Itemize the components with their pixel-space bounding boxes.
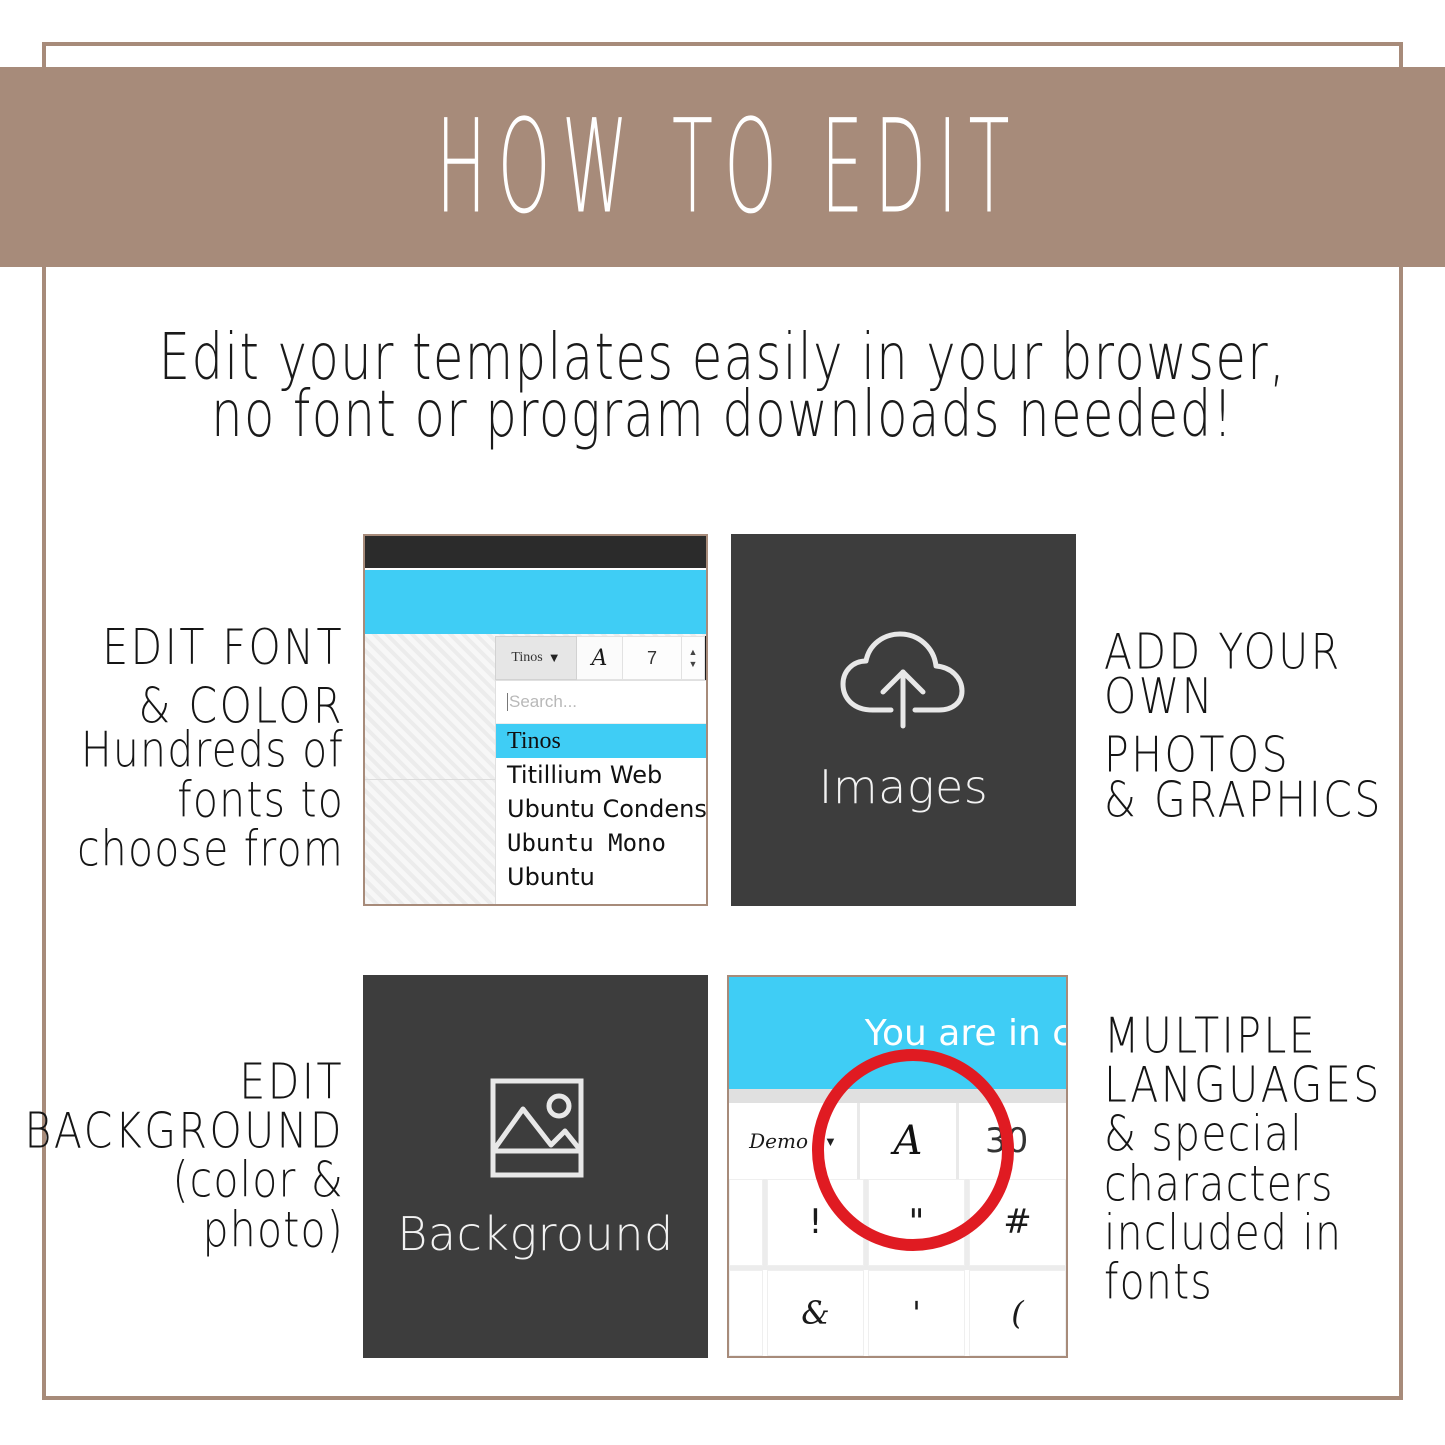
caption-edit-font-color: EDIT FONT & COLOR Hundreds of fonts to c… <box>62 628 344 874</box>
font-search-input[interactable]: Search... <box>496 681 708 724</box>
font-family-dropdown-label: Demo <box>749 1129 808 1153</box>
toolbar-edge <box>705 636 708 680</box>
font-picker-screenshot: Tinos ▼ A 7 ▲ ▼ Search... Tinos Titilliu… <box>363 534 708 906</box>
background-tile-label: Background <box>397 1207 673 1261</box>
red-highlight-circle-annotation <box>812 1049 1014 1251</box>
font-size-stepper[interactable]: ▲ ▼ <box>682 636 705 680</box>
caption-edit-background-line4: photo) <box>24 1201 344 1260</box>
font-family-dropdown-label: Tinos <box>511 650 542 666</box>
character-cell[interactable] <box>729 1270 763 1357</box>
caption-edit-font-color-line3: choose from <box>62 820 344 879</box>
subtitle: Edit your templates easily in your brows… <box>58 330 1387 443</box>
images-tile-label: Images <box>819 760 988 814</box>
font-dropdown-panel[interactable]: Search... Tinos Titillium Web Ubuntu Con… <box>495 680 708 906</box>
font-list-item[interactable]: Ubuntu <box>496 860 708 894</box>
caption-edit-font-color-upper: EDIT FONT & COLOR <box>62 618 344 736</box>
editor-banner-text: You are in c <box>865 1013 1068 1054</box>
editor-top-bar <box>365 536 706 568</box>
character-cell[interactable]: ( <box>969 1270 1066 1357</box>
font-size-input[interactable]: 7 <box>623 636 682 680</box>
text-caret <box>507 693 508 711</box>
cloud-upload-icon <box>829 626 979 736</box>
font-list-item[interactable]: Ubuntu Mono <box>496 826 708 860</box>
font-list-item[interactable]: Titillium Web <box>496 758 708 792</box>
font-list-item[interactable]: Ubuntu Condensed <box>496 792 708 826</box>
character-cell[interactable]: & <box>767 1270 864 1357</box>
character-cell[interactable]: ' <box>868 1270 965 1357</box>
caption-add-photos-line3: & GRAPHICS <box>1104 771 1404 830</box>
caption-add-photos-line2: OWN PHOTOS <box>1104 667 1404 785</box>
stepper-down-icon[interactable]: ▼ <box>689 660 698 669</box>
font-search-placeholder: Search... <box>509 692 577 712</box>
header-band: HOW TO EDIT <box>0 67 1445 267</box>
font-family-dropdown-button[interactable]: Tinos ▼ <box>495 636 577 680</box>
images-tile[interactable]: Images <box>731 534 1076 906</box>
subtitle-line-2: no font or program downloads needed! <box>58 382 1387 449</box>
caption-multiple-languages-line6: fonts <box>1104 1253 1404 1312</box>
picture-icon <box>461 1073 611 1183</box>
character-grid-row: & ' ( <box>729 1270 1066 1359</box>
caption-add-photos: ADD YOUR OWN PHOTOS & GRAPHICS <box>1104 628 1404 825</box>
chevron-down-icon: ▼ <box>548 650 561 666</box>
stepper-up-icon[interactable]: ▲ <box>689 648 698 657</box>
character-cell[interactable] <box>729 1179 763 1266</box>
editor-cyan-banner <box>365 570 706 634</box>
font-list-item[interactable]: Tinos <box>496 724 708 758</box>
page-title: HOW TO EDIT <box>424 102 1020 232</box>
caption-multiple-languages: MULTIPLE LANGUAGES & special characters … <box>1104 1012 1404 1307</box>
background-tile[interactable]: Background <box>363 975 708 1358</box>
font-toolbar: Tinos ▼ A 7 ▲ ▼ <box>495 636 708 680</box>
caption-edit-background: EDIT BACKGROUND (color & photo) <box>24 1058 344 1255</box>
font-style-a-icon[interactable]: A <box>577 636 623 680</box>
